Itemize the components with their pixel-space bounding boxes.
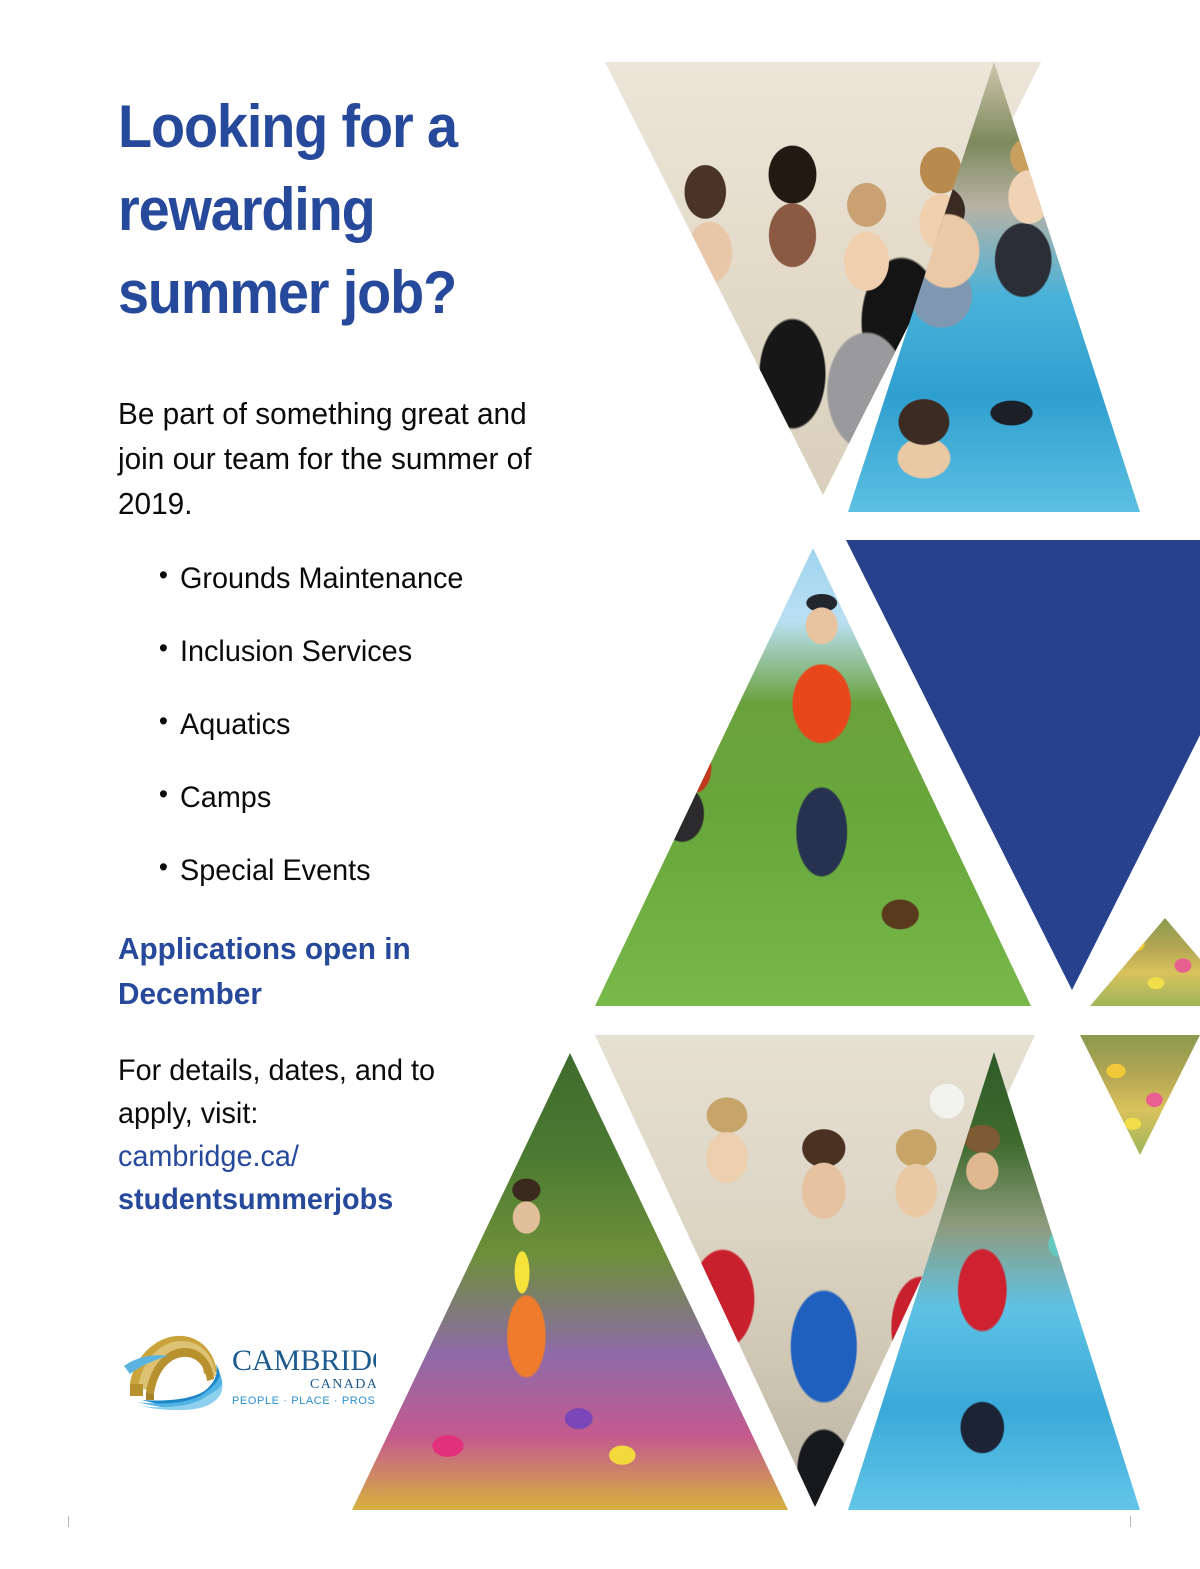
- list-item: •Aquatics: [180, 707, 572, 743]
- list-item-label: Special Events: [180, 854, 371, 887]
- logo-wordmark: CAMBRIDGE: [232, 1344, 376, 1377]
- list-item: •Special Events: [180, 853, 572, 889]
- applications-open-note: Applications open in December: [118, 926, 569, 1017]
- bullet-icon: •: [159, 851, 168, 883]
- intro-paragraph: Be part of something great and join our …: [118, 392, 569, 527]
- logo-tagline: PEOPLE · PLACE · PROSPERITY: [232, 1395, 376, 1407]
- website-url-line1[interactable]: cambridge.ca/: [118, 1135, 569, 1178]
- bullet-icon: •: [159, 778, 168, 810]
- list-item: •Grounds Maintenance: [180, 561, 572, 597]
- list-item: •Camps: [180, 780, 572, 816]
- visit-instructions: For details, dates, and to apply, visit:: [118, 1049, 569, 1135]
- flower-bed-edge-photo: [1080, 1035, 1200, 1155]
- flower-bed-edge-image: [1080, 1035, 1200, 1155]
- cambridge-logo: CAMBRIDGE CANADA PEOPLE · PLACE · PROSPE…: [124, 1322, 376, 1410]
- page-title: Looking for a rewarding summer job?: [118, 86, 555, 334]
- bullet-icon: •: [159, 632, 168, 664]
- list-item-label: Aquatics: [180, 708, 290, 741]
- list-item: •Inclusion Services: [180, 634, 572, 670]
- list-item-label: Grounds Maintenance: [180, 562, 463, 595]
- logo-country: CANADA: [310, 1377, 376, 1392]
- text-column: Looking for a rewarding summer job? Be p…: [118, 86, 588, 1221]
- bullet-icon: •: [159, 705, 168, 737]
- bridge-arch-icon: [130, 1336, 217, 1400]
- crop-mark-right: [1130, 1516, 1131, 1527]
- list-item-label: Camps: [180, 781, 271, 814]
- cambridge-logo-svg: CAMBRIDGE CANADA PEOPLE · PLACE · PROSPE…: [124, 1322, 376, 1410]
- website-url-line2[interactable]: studentsummerjobs: [118, 1178, 569, 1221]
- flower-bed-sliver-image: [1090, 918, 1200, 1006]
- job-categories-list: •Grounds Maintenance •Inclusion Services…: [118, 561, 588, 889]
- crop-mark-left: [68, 1516, 69, 1527]
- flower-bed-sliver-photo: [1090, 918, 1200, 1006]
- bullet-icon: •: [159, 559, 168, 591]
- list-item-label: Inclusion Services: [180, 635, 412, 668]
